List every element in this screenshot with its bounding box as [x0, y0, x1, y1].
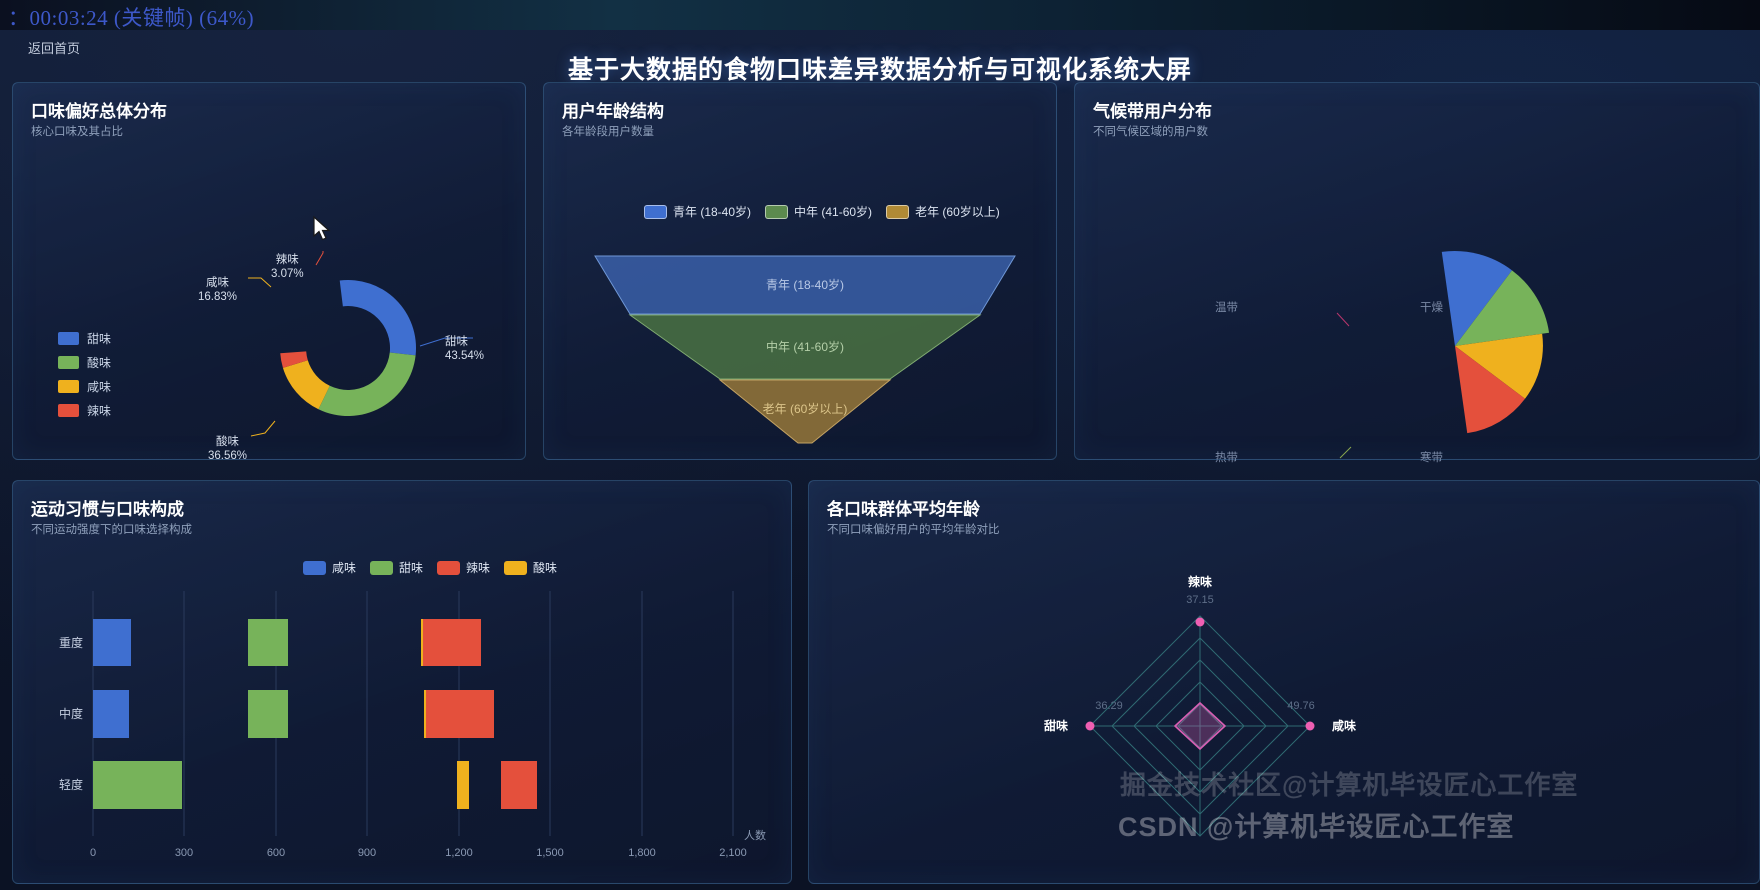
legend-label: 咸味 [332, 559, 356, 576]
legend-swatch-sour [504, 561, 527, 575]
grid-lines [93, 591, 733, 836]
panel-subtitle: 核心口味及其占比 [31, 123, 123, 139]
bar-medium-salty[interactable] [93, 690, 129, 738]
legend-label: 甜味 [87, 330, 111, 347]
legend-swatch-sweet [58, 332, 79, 345]
legend-item[interactable]: 辣味 [58, 400, 111, 420]
radar-point-salty[interactable] [1306, 722, 1315, 731]
panel-title: 口味偏好总体分布 [31, 97, 167, 122]
bar-light-sour[interactable] [457, 761, 469, 809]
donut-label-spicy: 辣味3.07% [271, 253, 304, 281]
legend-item[interactable]: 辣味 [437, 559, 490, 576]
radar-axis-label-salty: 咸味 [1332, 718, 1356, 733]
leader-line-spicy [316, 251, 323, 265]
donut-slice-sour[interactable] [313, 349, 422, 420]
leader-line-salty [248, 278, 271, 287]
xtick-1800: 1,800 [628, 847, 656, 859]
legend-label: 辣味 [87, 402, 111, 419]
radar-point-spicy[interactable] [1196, 618, 1205, 627]
legend-swatch-spicy [58, 404, 79, 417]
rose-label-cold: 寒带 [1420, 451, 1443, 465]
radar-point-sweet[interactable] [1086, 722, 1095, 731]
funnel-label-youth: 青年 (18-40岁) [766, 277, 844, 292]
bar-cat-medium: 中度 [59, 706, 83, 721]
legend-item[interactable]: 甜味 [370, 559, 423, 576]
legend-swatch-middle [765, 205, 788, 219]
rose-label-temperate: 温带 [1215, 301, 1238, 315]
bar-cat-heavy: 重度 [59, 635, 83, 650]
legend-label: 酸味 [87, 354, 111, 371]
legend-swatch-salty [303, 561, 326, 575]
xtick-900: 900 [358, 847, 376, 859]
xtick-1200: 1,200 [445, 847, 473, 859]
donut-slice-sweet[interactable] [340, 272, 418, 363]
panel-climate-distribution: 气候带用户分布 不同气候区域的用户数 温带 热带 干燥 寒带 [1074, 82, 1760, 460]
video-player-bar[interactable]: ：00:03:24 (关键帧) (64%) [0, 0, 1760, 30]
legend-item[interactable]: 老年 (60岁以上) [886, 203, 1000, 220]
legend-swatch-salty [58, 380, 79, 393]
dashboard-root: 返回首页 基于大数据的食物口味差异数据分析与可视化系统大屏 口味偏好总体分布 核… [0, 30, 1760, 890]
legend-label: 老年 (60岁以上) [915, 203, 1000, 220]
mouse-cursor-icon [313, 216, 333, 242]
legend-swatch-senior [886, 205, 909, 219]
legend-swatch-youth [644, 205, 667, 219]
panel-age-structure: 用户年龄结构 各年龄段用户数量 青年 (18-40岁) 中年 (41-60岁) … [543, 82, 1057, 460]
radar-value-salty: 49.76 [1287, 700, 1315, 712]
rose-chart[interactable] [1255, 213, 1675, 463]
xtick-2100: 2,100 [719, 847, 747, 859]
panel-title: 各口味群体平均年龄 [827, 495, 980, 520]
rose-leader-tropic [1340, 447, 1351, 458]
rose-leader-temperate [1337, 313, 1349, 326]
legend-swatch-spicy [437, 561, 460, 575]
horizontal-bar-chart[interactable]: 重度 中度 轻度 0 300 600 900 1,200 1,500 1, [33, 591, 783, 871]
panel-subtitle: 不同运动强度下的口味选择构成 [31, 521, 192, 537]
legend-swatch-sour [58, 356, 79, 369]
bar-legend[interactable]: 咸味 甜味 辣味 酸味 [303, 559, 557, 576]
legend-item[interactable]: 咸味 [303, 559, 356, 576]
donut-label-sweet: 甜味43.54% [445, 335, 484, 363]
funnel-label-senior: 老年 (60岁以上) [763, 401, 848, 416]
radar-data-polygon[interactable] [1175, 703, 1225, 749]
leader-line-sour [251, 421, 275, 436]
watermark-juejin: 掘金技术社区@计算机毕设匠心工作室 [1120, 765, 1578, 802]
xtick-0: 0 [90, 847, 96, 859]
bar-medium-spicy[interactable] [426, 690, 494, 738]
bar-cat-light: 轻度 [59, 777, 83, 792]
xtick-1500: 1,500 [536, 847, 564, 859]
rose-label-tropic: 热带 [1215, 451, 1238, 465]
legend-item[interactable]: 酸味 [504, 559, 557, 576]
funnel-label-middle: 中年 (41-60岁) [766, 339, 844, 354]
panel-taste-distribution: 口味偏好总体分布 核心口味及其占比 甜味 酸味 咸味 辣味 [12, 82, 526, 460]
panel-title: 气候带用户分布 [1093, 97, 1212, 122]
xtick-300: 300 [175, 847, 193, 859]
legend-item[interactable]: 甜味 [58, 328, 111, 348]
legend-label: 中年 (41-60岁) [794, 203, 872, 220]
panel-subtitle: 不同气候区域的用户数 [1093, 123, 1208, 139]
bar-heavy-salty[interactable] [93, 619, 131, 666]
legend-label: 酸味 [533, 559, 557, 576]
legend-label: 咸味 [87, 378, 111, 395]
panel-sport-taste: 运动习惯与口味构成 不同运动强度下的口味选择构成 咸味 甜味 辣味 酸味 [12, 480, 792, 884]
panel-title: 用户年龄结构 [562, 97, 664, 122]
panel-subtitle: 各年龄段用户数量 [562, 123, 654, 139]
xtick-600: 600 [267, 847, 285, 859]
x-axis-unit-label: 人数 [744, 829, 766, 842]
legend-item[interactable]: 咸味 [58, 376, 111, 396]
bar-light-spicy[interactable] [501, 761, 537, 809]
playback-timecode: ：00:03:24 (关键帧) (64%) [8, 2, 254, 30]
donut-label-salty: 咸味16.83% [198, 276, 237, 304]
legend-item[interactable]: 青年 (18-40岁) [644, 203, 751, 220]
legend-swatch-sweet [370, 561, 393, 575]
radar-axis-label-sweet: 甜味 [1044, 718, 1068, 733]
funnel-chart[interactable]: 青年 (18-40岁) 中年 (41-60岁) 老年 (60岁以上) [590, 251, 1020, 446]
radar-value-spicy: 37.15 [1186, 594, 1214, 606]
donut-label-sour: 酸味36.56% [208, 435, 247, 463]
legend-item[interactable]: 酸味 [58, 352, 111, 372]
legend-label: 辣味 [466, 559, 490, 576]
radar-axis-label-spicy: 辣味 [1188, 574, 1212, 589]
bar-light-sweet[interactable] [93, 761, 182, 809]
panel-title: 运动习惯与口味构成 [31, 495, 184, 520]
funnel-legend[interactable]: 青年 (18-40岁) 中年 (41-60岁) 老年 (60岁以上) [644, 203, 1000, 220]
legend-label: 青年 (18-40岁) [673, 203, 751, 220]
bar-medium-sweet[interactable] [248, 690, 288, 738]
rose-label-dry: 干燥 [1420, 301, 1443, 315]
bar-heavy-sweet[interactable] [248, 619, 288, 666]
legend-item[interactable]: 中年 (41-60岁) [765, 203, 872, 220]
donut-legend[interactable]: 甜味 酸味 咸味 辣味 [58, 328, 111, 424]
panel-subtitle: 不同口味偏好用户的平均年龄对比 [827, 521, 1000, 537]
watermark-csdn: CSDN @计算机毕设匠心工作室 [1118, 805, 1514, 844]
page-title: 基于大数据的食物口味差异数据分析与可视化系统大屏 [0, 50, 1760, 86]
legend-label: 甜味 [399, 559, 423, 576]
radar-value-sweet: 36.29 [1095, 700, 1123, 712]
bar-heavy-spicy[interactable] [423, 619, 481, 666]
